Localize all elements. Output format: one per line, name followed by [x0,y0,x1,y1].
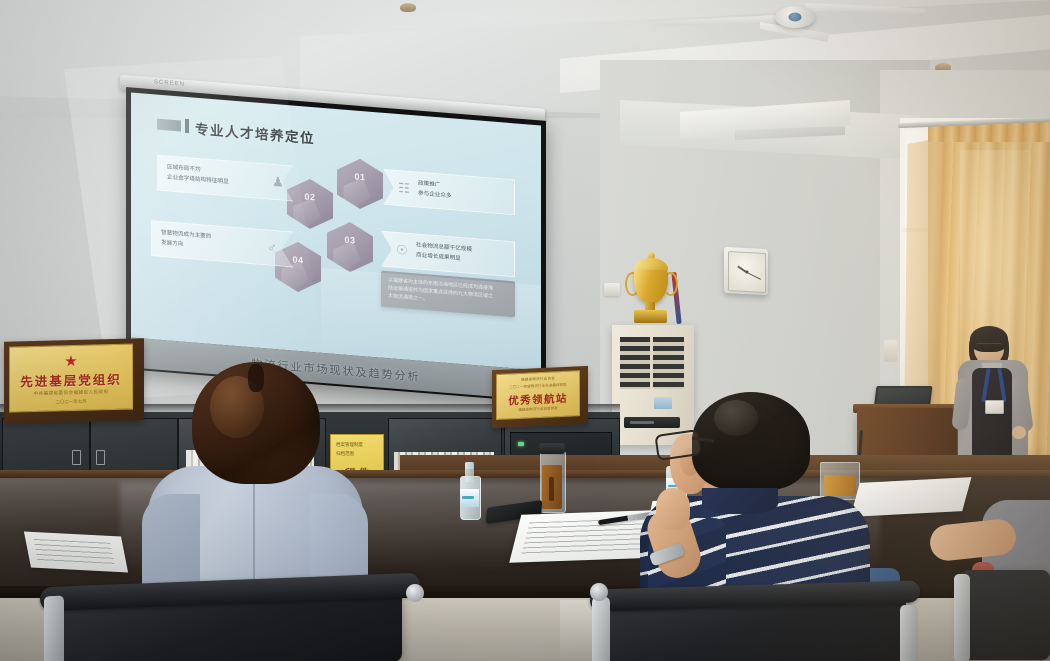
slide-title: 专业人才培养定位 [195,118,315,148]
hair-highlight [714,400,758,436]
hexagon-number: 02 [287,190,333,204]
cabinet-handle[interactable] [96,450,105,465]
title-accent-bar [157,119,181,132]
glass-handle [34,8,50,32]
presenter-glasses-icon [976,343,1002,351]
tea-leaves [549,477,554,501]
callout-region: 区域布局不均 企业金字塔结构特征明显 ♟ [157,155,293,202]
status-led [518,442,524,446]
office-chair[interactable] [40,580,420,661]
person-chart-icon: ♂ [264,239,280,256]
document-papers [24,532,128,573]
callout-smart-logistics: 智慧物流成为主要的 发展方向 ♂ [151,220,293,267]
award-plaque-right: 福建省物流行业协会 二〇二一年度物流行业先进集体表彰 优秀领航站 福建省物流行业… [492,366,588,428]
presenter-hand [1012,426,1026,439]
attendee-hand [656,488,690,530]
award-plaque-left: ★ 先进基层党组织 中共福建省委员会福建省人民政府 二〇二一年七月 [4,338,144,423]
slide-note-box: 以福建省为主体的东南沿海地区已经成为连接海 陆运输通道并为国家重点扶持的九大物流… [381,271,515,318]
callout-line2: 企业金字塔结构特征明显 [167,173,229,187]
callout-line1: 政策推广 [418,180,440,190]
hexagon-number: 03 [327,233,373,247]
clock-center-pin [746,270,749,273]
light-switch[interactable] [604,283,620,296]
wall-clock [724,247,768,295]
projection-screen[interactable]: SCREEN 专业人才培养定位 01 02 03 04 区域布局不均 企业金字塔… [126,87,546,409]
chair-frame [592,597,610,661]
sprinkler-head-icon [400,3,416,12]
note-line3: 大物流通道之一。 [388,292,428,304]
tea-thermos [540,443,564,511]
party-emblem-icon: ★ [62,354,80,370]
chair-frame [396,604,416,661]
plaque-title: 先进基层党组织 [10,369,132,391]
thermos-cap [539,443,565,454]
chair-pivot-knob [406,584,424,602]
chair-pivot-knob [590,583,608,601]
slide-canvas[interactable]: 专业人才培养定位 01 02 03 04 区域布局不均 企业金字塔结构特征明显 … [131,93,541,371]
callout-line2: 发展方向 [161,239,183,249]
ac-vent-divider [650,337,653,389]
paper-text-lines [33,539,114,565]
trophy-base [634,310,667,323]
conference-room-photo: SCREEN 专业人才培养定位 01 02 03 04 区域布局不均 企业金字塔… [0,0,1050,661]
plaque-top-line2: 二〇二一年度物流行业先进集体表彰 [497,382,579,391]
chair-frame [900,605,918,661]
standing-presenter [958,330,1028,465]
ceiling-fan-icon [775,6,815,28]
bottle-cap [465,462,475,469]
clock-minute-hand [747,272,761,280]
callout-market: 社会物流总额干亿规模 商业增长成果明显 ☉ [381,231,515,278]
title-accent-bar [185,119,189,133]
water-bottle [460,462,479,520]
clock-face [728,251,766,293]
plaque-face: ★ 先进基层党组织 中共福建省委员会福建省人民政府 二〇二一年七月 [9,344,133,413]
hexagon-step: 02 [287,177,333,231]
polo-collar [702,488,778,514]
hexagon-step: 03 [327,220,373,274]
id-badge [985,400,1004,414]
plaque-face: 福建省物流行业协会 二〇二一年度物流行业先进集体表彰 优秀领航站 福建省物流行业… [496,370,580,420]
office-chair[interactable] [590,585,920,661]
growth-icon: ☉ [394,242,410,259]
callout-policy: 政策推广 参与企业众多 ☷ [383,169,515,216]
callout-line2: 参与企业众多 [418,190,452,201]
runner-icon: ♟ [270,174,286,191]
office-chair[interactable] [960,570,1050,661]
chair-frame [44,596,64,661]
chair-frame [954,574,970,661]
hexagon-step: 01 [337,157,383,211]
attendee-left [148,362,363,602]
chair-backrest [960,570,1050,660]
bottle-label [460,489,479,508]
network-icon: ☷ [396,180,412,197]
cabinet-handle[interactable] [72,450,81,465]
plaque-date: 二〇二一年七月 [10,398,132,407]
hexagon-number: 01 [337,170,383,184]
callout-line2: 商业增长成果明显 [416,251,461,263]
wall-speaker [884,340,897,362]
hair-part [248,364,264,392]
